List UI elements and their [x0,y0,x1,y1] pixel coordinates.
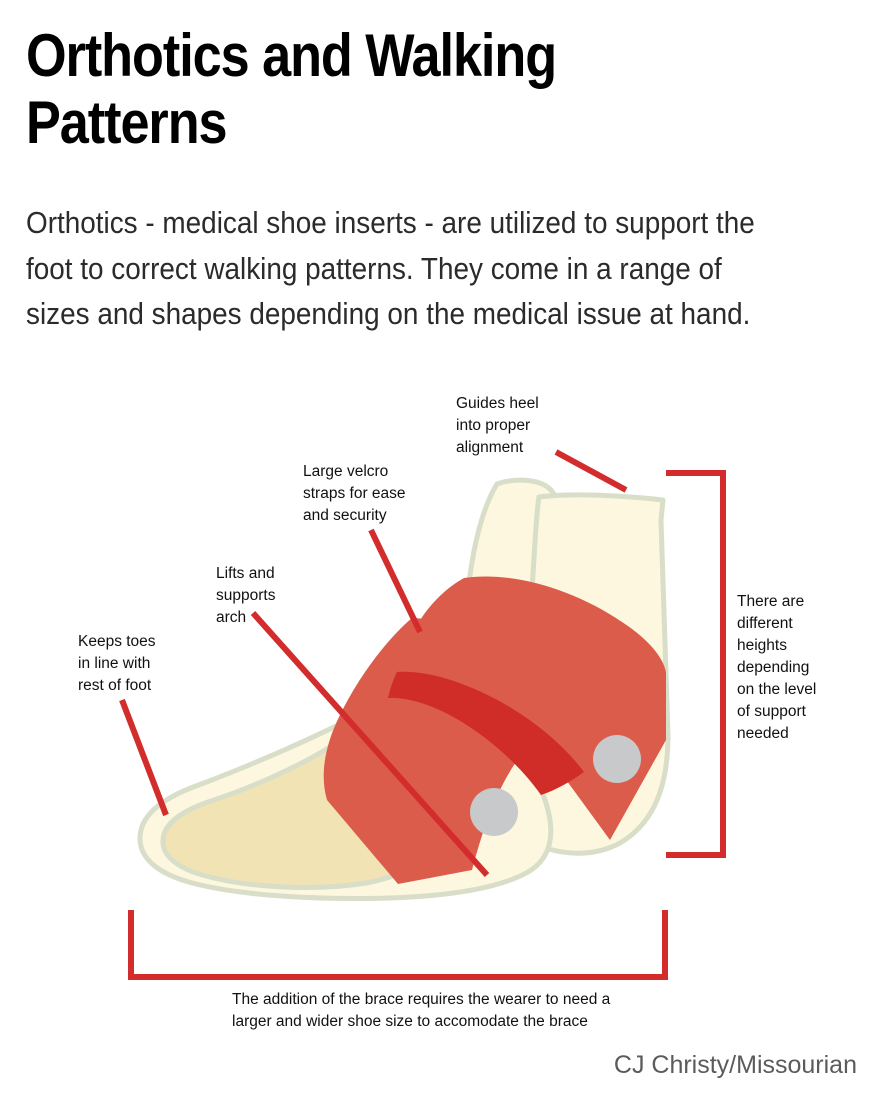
leader-line-toes [122,700,166,815]
page-title: Orthotics and Walking Patterns [26,22,722,156]
infographic-page: Orthotics and Walking Patterns Orthotics… [0,0,883,1111]
heel-back-panel [510,495,668,853]
foot-and-leg-group [140,480,668,898]
foot-sole-shape [163,720,438,887]
annotation-heights: There are different heights depending on… [737,591,857,745]
credit-line: CJ Christy/Missourian [614,1051,857,1080]
height-bracket-right [666,473,723,855]
foot-upper-shape [140,695,551,899]
annotation-guides-heel: Guides heel into proper alignment [456,393,626,459]
orthosis-illustration [0,0,883,1111]
lower-velcro-strap [324,618,570,884]
annotation-keeps-toes: Keeps toes in line with rest of foot [78,631,218,697]
leader-line-velcro [371,530,420,632]
annotation-velcro-straps: Large velcro straps for ease and securit… [303,461,483,527]
bracket-group [131,473,723,977]
upper-fastener-dot [593,735,641,783]
annotation-arch-support: Lifts and supports arch [216,563,336,629]
page-subtitle: Orthotics - medical shoe inserts - are u… [26,200,764,337]
brace-strap-group [324,577,666,884]
width-bracket-bottom [131,910,665,977]
upper-velcro-strap [400,577,666,840]
leader-line-arch [253,613,487,875]
lower-fastener-dot [470,788,518,836]
header-block: Orthotics and Walking Patterns [26,22,826,156]
strap-overlap-band [388,672,584,795]
bottom-caption: The addition of the brace requires the w… [232,989,652,1034]
